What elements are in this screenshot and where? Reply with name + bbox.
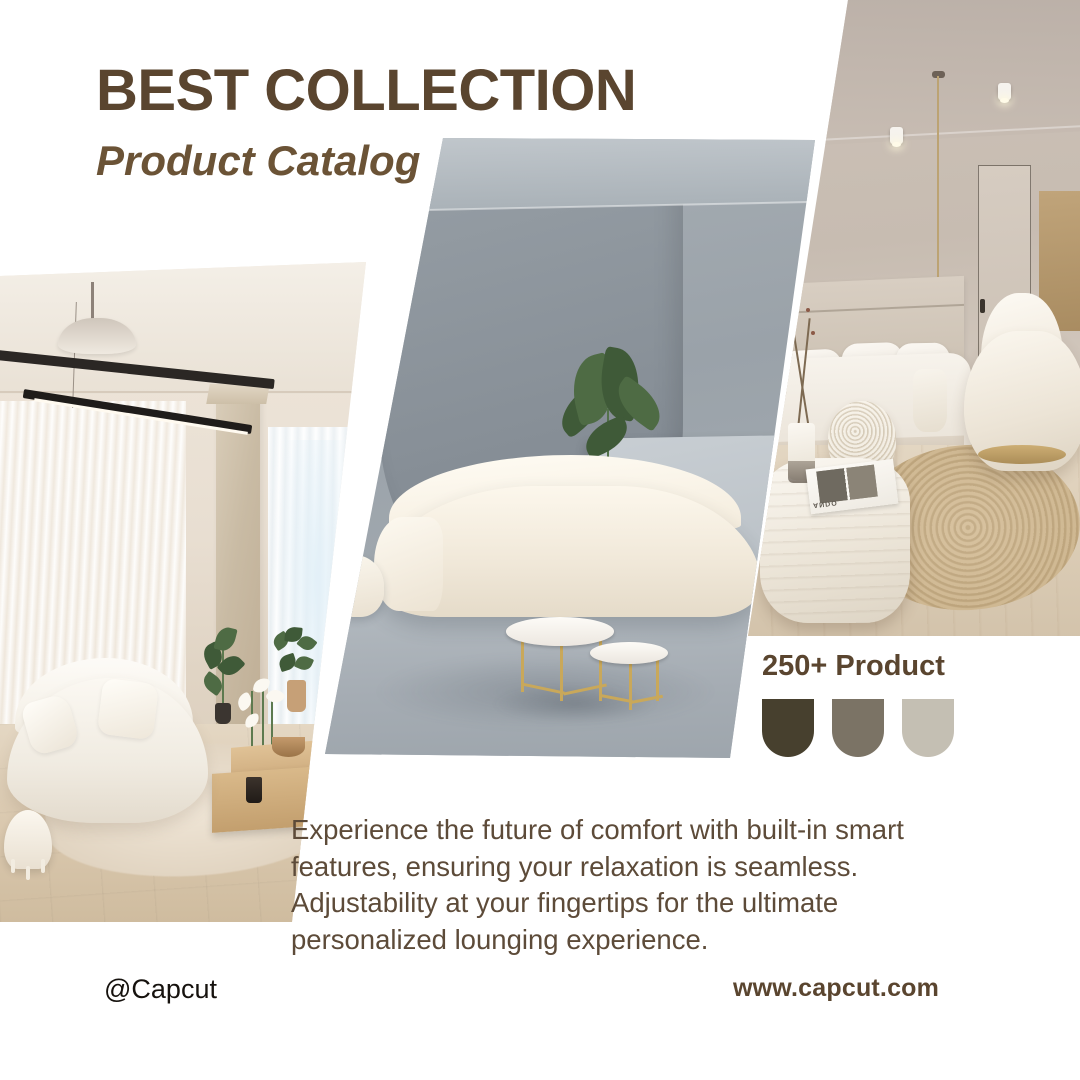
- ceiling-spotlight-1: [890, 127, 903, 144]
- color-swatch-light-greige[interactable]: [902, 699, 954, 757]
- website-url[interactable]: www.capcut.com: [733, 974, 939, 1003]
- social-handle: @Capcut: [104, 974, 217, 1005]
- photo-panel-grey-studio-sofa: [325, 138, 815, 760]
- beige-bedroom-scene: ANDO: [740, 0, 1080, 636]
- product-count-block: 250+ Product: [762, 652, 954, 757]
- color-swatch-row: [762, 699, 954, 757]
- marble-nesting-table-large: [506, 617, 614, 646]
- throw-pillow-right: [97, 678, 159, 740]
- marble-nesting-table-small: [590, 642, 668, 664]
- ceiling-edge: [0, 391, 372, 393]
- poster-canvas: ANDO BEST COLLECTION Product Catalog 250…: [0, 0, 1080, 1080]
- twig-bud-1: [793, 318, 797, 322]
- page-subtitle: Product Catalog: [96, 140, 636, 182]
- page-title: BEST COLLECTION: [96, 62, 636, 120]
- color-swatch-dark-olive-brown[interactable]: [762, 699, 814, 757]
- color-swatch-warm-taupe[interactable]: [832, 699, 884, 757]
- pendant-rod: [91, 282, 94, 322]
- product-count-label: 250+ Product: [762, 652, 954, 681]
- grey-studio-scene: [325, 138, 815, 760]
- headline-block: BEST COLLECTION Product Catalog: [96, 62, 636, 182]
- dark-vessel: [246, 777, 263, 803]
- wooden-bowl: [272, 737, 305, 757]
- carved-stool: [913, 369, 947, 433]
- table-leg-sm-2: [656, 657, 659, 701]
- photo-panel-beige-bedroom: ANDO: [740, 0, 1080, 636]
- ceiling-spotlight-2: [998, 83, 1011, 100]
- body-paragraph: Experience the future of comfort with bu…: [291, 812, 963, 958]
- sofa-arm: [374, 517, 443, 610]
- round-pouf: [325, 555, 384, 617]
- door-handle: [980, 299, 985, 313]
